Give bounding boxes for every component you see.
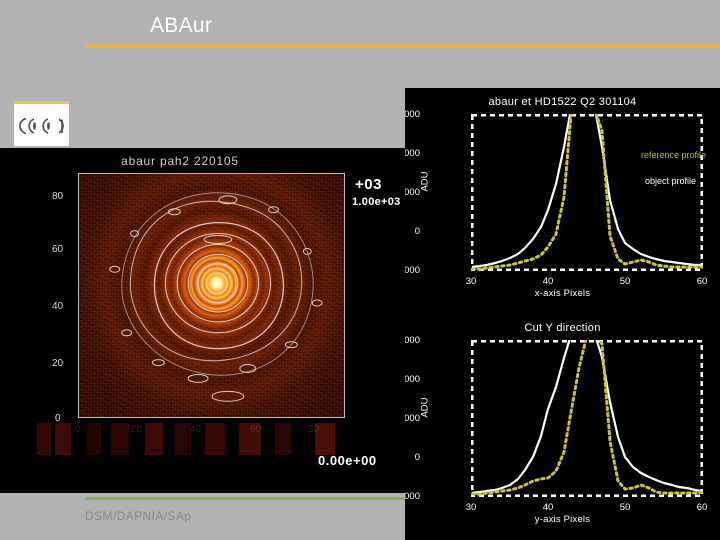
cea-logo <box>14 101 69 146</box>
image-ytick-60: 60 <box>52 244 63 255</box>
profiles-panel: abaur et HD1522 Q2 301104 ADU 3000 2000 … <box>405 88 720 540</box>
cut-x-ytick-2000: 2000 <box>405 148 420 159</box>
cut-y-ytick-2000: 2000 <box>405 374 420 385</box>
cea-logo-icon <box>14 110 69 142</box>
title-divider <box>85 44 720 48</box>
cut-y-ylabel: ADU <box>420 378 431 438</box>
image-ytick-40: 40 <box>52 301 63 312</box>
cut-x-svg <box>471 114 703 271</box>
cut-x-xtick-60: 60 <box>682 276 720 287</box>
cut-x-title: abaur et HD1522 Q2 301104 <box>405 96 720 108</box>
cut-y-svg <box>471 340 703 497</box>
cut-y-title: Cut Y direction <box>405 322 720 334</box>
cut-x-xtick-50: 50 <box>605 276 645 287</box>
cut-y-axis-frame <box>472 341 702 496</box>
footer-label: DSM/DAPNIA/SAp <box>85 509 191 523</box>
cut-y-xlabel: y-axis Pixels <box>405 514 720 525</box>
cut-x-xtick-30: 30 <box>451 276 491 287</box>
image-ytick-20: 20 <box>52 358 63 369</box>
cut-x-chart: abaur et HD1522 Q2 301104 ADU 3000 2000 … <box>405 88 720 314</box>
legend-object-profile: object profile <box>645 176 696 186</box>
cut-x-ytick--1000: -1000 <box>405 265 420 276</box>
cut-y-plot-area <box>471 340 703 497</box>
cut-x-ylabel: ADU <box>420 152 431 212</box>
cut-x-ytick-3000: 3000 <box>405 109 420 120</box>
cut-x-series-object <box>472 114 702 267</box>
cut-y-series-reference <box>472 340 702 494</box>
cut-x-axis-frame <box>472 115 702 270</box>
image-ytick-80: 80 <box>52 191 63 202</box>
cut-x-series-reference <box>472 114 702 269</box>
lower-strip-artifacts <box>25 423 385 455</box>
cut-x-xlabel: x-axis Pixels <box>405 288 720 299</box>
colorbar-max-label: 1.00e+03 <box>352 196 401 208</box>
cut-y-ytick-0: 0 <box>405 452 420 463</box>
footer-divider <box>85 497 405 500</box>
cut-y-ytick-1000: 1000 <box>405 413 420 424</box>
cut-y-ytick--1000: -1000 <box>405 491 420 502</box>
slide-canvas: ABAur DSM/DAPNIA/SAp abaur pah2 220105 0 <box>0 0 720 540</box>
cut-x-ytick-1000: 1000 <box>405 187 420 198</box>
cut-y-xtick-30: 30 <box>451 502 491 513</box>
contour-lines <box>79 174 344 417</box>
cut-y-xtick-40: 40 <box>528 502 568 513</box>
colorbar-exponent-label: +03 <box>355 176 382 193</box>
cut-x-plot-area <box>471 114 703 271</box>
image-plot-title: abaur pah2 220105 <box>0 154 360 168</box>
image-plot-area <box>78 173 345 418</box>
cut-y-xtick-60: 60 <box>682 502 720 513</box>
logo-accent-bar <box>14 101 69 104</box>
cut-y-ytick-3000: 3000 <box>405 335 420 346</box>
legend-reference-profile: reference profile <box>641 150 706 160</box>
cut-x-xtick-40: 40 <box>528 276 568 287</box>
cut-y-xtick-50: 50 <box>605 502 645 513</box>
image-plot-panel: abaur pah2 220105 0 20 40 60 80 0 20 40 … <box>0 148 405 493</box>
page-title: ABAur <box>150 14 212 38</box>
cut-x-ytick-0: 0 <box>405 226 420 237</box>
cut-y-chart: Cut Y direction ADU 3000 2000 1000 0 -10… <box>405 314 720 540</box>
cut-y-series-object <box>472 340 702 493</box>
colorbar-min-label: 0.00e+00 <box>318 453 377 468</box>
